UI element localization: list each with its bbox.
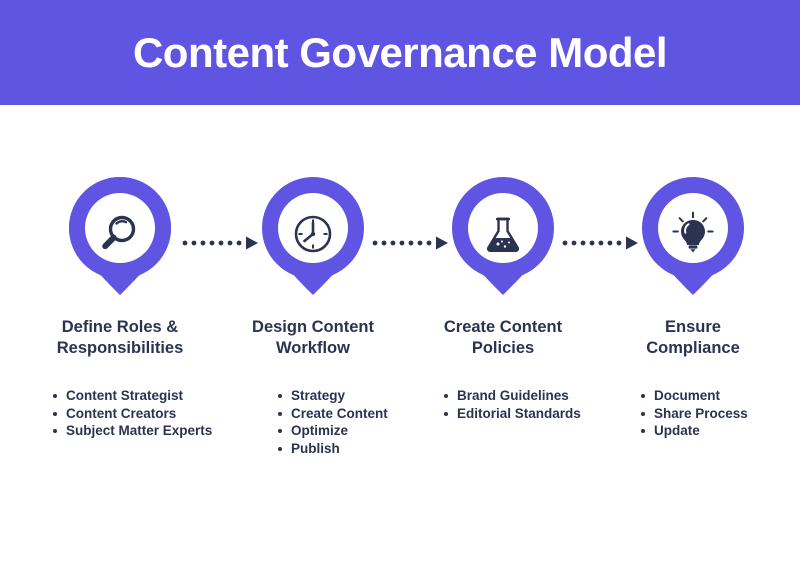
step-define-roles[interactable]: Define Roles & Responsibilities Content … — [25, 105, 215, 565]
arrow-step2-to-step3 — [372, 235, 450, 251]
list-item: Publish — [278, 440, 388, 458]
list-item: Content Creators — [53, 405, 212, 423]
step-2-heading: Design Content Workflow — [218, 317, 408, 358]
list-item: Optimize — [278, 422, 388, 440]
step-ensure-compliance[interactable]: Ensure Compliance Document Share Process… — [598, 105, 788, 565]
header-band: Content Governance Model — [0, 0, 800, 105]
flask-icon — [479, 210, 527, 258]
step-4-heading-line1: Ensure — [598, 317, 788, 338]
step-3-heading-line1: Create Content — [408, 317, 598, 338]
step-2-pin[interactable] — [254, 173, 372, 297]
arrow-step1-to-step2 — [182, 235, 260, 251]
step-4-heading-line2: Compliance — [598, 338, 788, 359]
step-1-heading: Define Roles & Responsibilities — [25, 317, 215, 358]
step-3-bullet-list: Brand Guidelines Editorial Standards — [426, 387, 581, 422]
list-item: Content Strategist — [53, 387, 212, 405]
page-title: Content Governance Model — [133, 32, 667, 74]
list-item: Document — [641, 387, 748, 405]
list-item: Share Process — [641, 405, 748, 423]
step-3-heading-line2: Policies — [408, 338, 598, 359]
step-1-heading-line1: Define Roles & — [25, 317, 215, 338]
arrow-step3-to-step4 — [562, 235, 640, 251]
list-item: Update — [641, 422, 748, 440]
step-1-heading-line2: Responsibilities — [25, 338, 215, 359]
step-1-bullet-list: Content Strategist Content Creators Subj… — [35, 387, 212, 440]
lightbulb-icon — [669, 210, 717, 258]
step-design-workflow[interactable]: Design Content Workflow Strategy Create … — [218, 105, 408, 565]
step-create-policies[interactable]: Create Content Policies Brand Guidelines… — [408, 105, 598, 565]
list-item: Create Content — [278, 405, 388, 423]
clock-icon — [289, 210, 337, 258]
list-item: Strategy — [278, 387, 388, 405]
step-2-heading-line1: Design Content — [218, 317, 408, 338]
step-4-heading: Ensure Compliance — [598, 317, 788, 358]
step-4-pin[interactable] — [634, 173, 752, 297]
list-item: Editorial Standards — [444, 405, 581, 423]
list-item: Brand Guidelines — [444, 387, 581, 405]
step-2-bullet-list: Strategy Create Content Optimize Publish — [260, 387, 388, 458]
step-1-pin[interactable] — [61, 173, 179, 297]
step-2-heading-line2: Workflow — [218, 338, 408, 359]
list-item: Subject Matter Experts — [53, 422, 212, 440]
magnifier-icon — [96, 210, 144, 258]
step-4-bullet-list: Document Share Process Update — [623, 387, 748, 440]
process-steps: Define Roles & Responsibilities Content … — [0, 105, 800, 565]
step-3-pin[interactable] — [444, 173, 562, 297]
step-3-heading: Create Content Policies — [408, 317, 598, 358]
